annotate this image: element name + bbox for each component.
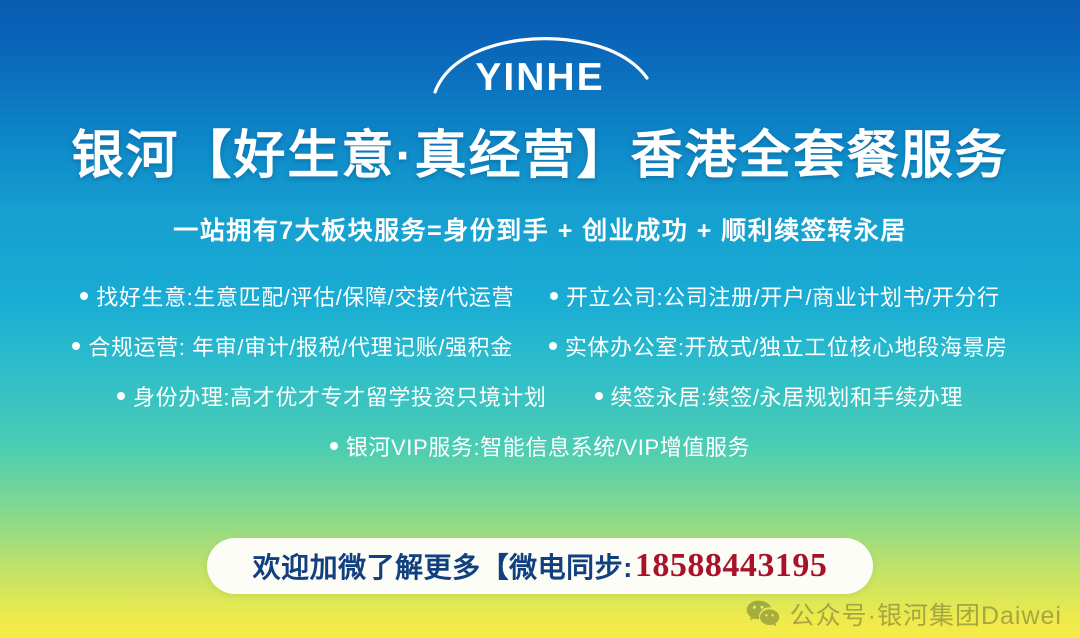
- watermark: 公众号·银河集团Daiwei: [746, 596, 1062, 632]
- feature-label: 开立公司:公司注册/开户/商业计划书/开分行: [566, 281, 1000, 315]
- feature-label: 续签永居:续签/永居规划和手续办理: [611, 381, 963, 415]
- wechat-icon: [746, 599, 780, 629]
- feature-label: 找好生意:生意匹配/评估/保障/交接/代运营: [96, 281, 514, 315]
- feature-label: 实体办公室:开放式/独立工位核心地段海景房: [565, 331, 1008, 365]
- feature-item: 开立公司:公司注册/开户/商业计划书/开分行: [550, 281, 1000, 315]
- feature-row: 银河VIP服务:智能信息系统/VIP增值服务: [0, 431, 1080, 465]
- logo-wordmark: YINHE: [425, 58, 655, 98]
- feature-list: 找好生意:生意匹配/评估/保障/交接/代运营 开立公司:公司注册/开户/商业计划…: [0, 281, 1080, 481]
- subheadline: 一站拥有7大板块服务=身份到手 + 创业成功 + 顺利续签转永居: [0, 214, 1080, 248]
- bullet-dot-icon: [549, 342, 557, 350]
- bullet-dot-icon: [117, 392, 125, 400]
- contact-label: 欢迎加微了解更多【微电同步:: [253, 546, 633, 586]
- feature-row: 合规运营: 年审/审计/报税/代理记账/强积金 实体办公室:开放式/独立工位核心…: [0, 331, 1080, 365]
- feature-item: 合规运营: 年审/审计/报税/代理记账/强积金: [72, 331, 512, 365]
- bullet-dot-icon: [80, 292, 88, 300]
- feature-row: 找好生意:生意匹配/评估/保障/交接/代运营 开立公司:公司注册/开户/商业计划…: [0, 281, 1080, 315]
- bullet-dot-icon: [595, 392, 603, 400]
- contact-banner: 欢迎加微了解更多【微电同步: 18588443195: [207, 538, 873, 594]
- feature-item: 身份办理:高才优才专才留学投资只境计划: [117, 381, 547, 415]
- bullet-dot-icon: [330, 442, 338, 450]
- feature-label: 合规运营: 年审/审计/报税/代理记账/强积金: [88, 331, 512, 365]
- feature-item: 续签永居:续签/永居规划和手续办理: [595, 381, 963, 415]
- headline: 银河【好生意·真经营】香港全套餐服务: [0, 125, 1080, 187]
- feature-label: 身份办理:高才优才专才留学投资只境计划: [133, 381, 547, 415]
- watermark-label: 公众号·银河集团Daiwei: [790, 596, 1062, 632]
- feature-row: 身份办理:高才优才专才留学投资只境计划 续签永居:续签/永居规划和手续办理: [0, 381, 1080, 415]
- feature-item: 找好生意:生意匹配/评估/保障/交接/代运营: [80, 281, 514, 315]
- brand-logo: YINHE: [0, 34, 1080, 96]
- feature-item: 银河VIP服务:智能信息系统/VIP增值服务: [330, 431, 750, 465]
- contact-phone[interactable]: 18588443195: [635, 547, 828, 585]
- bullet-dot-icon: [550, 292, 558, 300]
- bullet-dot-icon: [72, 342, 80, 350]
- feature-item: 实体办公室:开放式/独立工位核心地段海景房: [549, 331, 1008, 365]
- feature-label: 银河VIP服务:智能信息系统/VIP增值服务: [346, 431, 750, 465]
- promo-poster: YINHE 银河【好生意·真经营】香港全套餐服务 一站拥有7大板块服务=身份到手…: [0, 0, 1080, 638]
